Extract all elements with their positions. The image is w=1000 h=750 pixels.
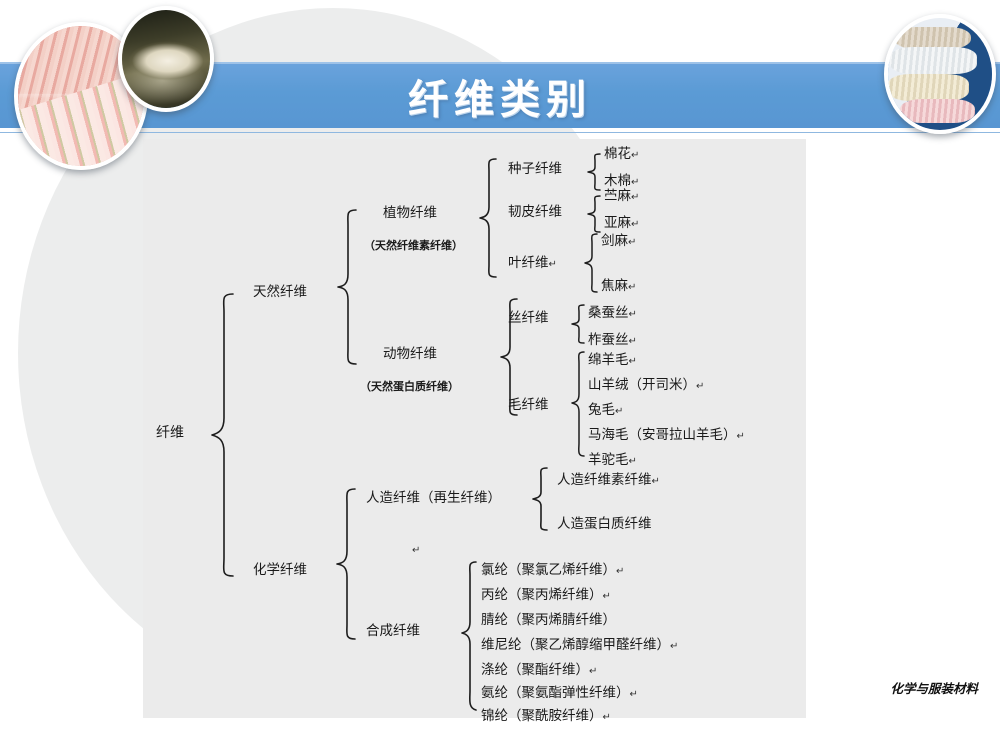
leaf-wool-0: 绵羊毛↵ (588, 354, 637, 368)
node-manmade-fiber: 人造纤维（再生纤维） (366, 492, 501, 506)
leaf-silk-1: 柞蚕丝↵ (588, 334, 637, 348)
brace-plant (478, 157, 498, 281)
leaf-wool-4: 羊驼毛↵ (588, 454, 637, 468)
slide-canvas: 纤维类别 (0, 0, 1000, 750)
leaf-manmade-0: 人造纤维素纤维↵ (557, 474, 660, 488)
brace-synthetic (460, 560, 478, 712)
leaf-synthetic-4: 涤纶（聚酯纤维）↵ (481, 664, 597, 678)
node-manmade-return-mark: ↵ (412, 546, 420, 556)
leaf-synthetic-1: 丙纶（聚丙烯纤维）↵ (481, 589, 611, 603)
leaf-wool-1: 山羊绒（开司米）↵ (588, 379, 704, 393)
brace-wool (570, 350, 586, 460)
leaf-silk-0: 桑蚕丝↵ (588, 307, 637, 321)
node-natural-fiber: 天然纤维 (253, 286, 307, 300)
leaf-synthetic-0: 氯纶（聚氯乙烯纤维）↵ (481, 564, 624, 578)
node-synthetic-fiber: 合成纤维 (366, 625, 420, 639)
node-chemical-fiber: 化学纤维 (253, 564, 307, 578)
node-leaf-fiber: 叶纤维↵ (508, 257, 557, 271)
node-animal-fiber: 动物纤维 (383, 348, 437, 362)
leaf-leaf-1: 焦麻↵ (601, 280, 636, 294)
leaf-bast-0: 苎麻↵ (604, 190, 639, 204)
brace-leaf (583, 232, 599, 294)
leaf-synthetic-2: 腈纶（聚丙烯腈纤维） (481, 614, 616, 628)
node-plant-fiber-subtitle: （天然纤维素纤维） (364, 240, 463, 251)
leaf-seed-1: 木棉↵ (604, 175, 639, 189)
leaf-wool-3: 马海毛（安哥拉山羊毛）↵ (588, 429, 745, 443)
brace-natural (336, 208, 358, 368)
leaf-synthetic-5: 氨纶（聚氨酯弹性纤维）↵ (481, 687, 638, 701)
leaf-synthetic-3: 维尼纶（聚乙烯醇缩甲醛纤维）↵ (481, 639, 678, 653)
node-wool-fiber: 毛纤维 (508, 399, 549, 413)
leaf-synthetic-6: 锦纶（聚酰胺纤维）↵ (481, 710, 611, 724)
node-plant-fiber: 植物纤维 (383, 207, 437, 221)
brace-silk (570, 303, 586, 345)
brace-bast (586, 194, 602, 234)
folded-towels-photo (884, 14, 996, 134)
band-underline (0, 132, 1000, 133)
node-silk-fiber: 丝纤维 (508, 312, 549, 326)
leaf-seed-0: 棉花↵ (604, 148, 639, 162)
leaf-bast-1: 亚麻↵ (604, 217, 639, 231)
brace-manmade (531, 466, 549, 532)
slide-footer: 化学与服装材料 (890, 678, 978, 697)
brace-seed (586, 152, 602, 192)
node-animal-fiber-subtitle: （天然蛋白质纤维） (360, 381, 459, 392)
leaf-wool-2: 兔毛↵ (588, 404, 623, 418)
node-root-fiber: 纤维 (156, 426, 184, 440)
brace-chemical (335, 487, 357, 643)
brace-root (209, 292, 235, 578)
cotton-boll-plant-photo (118, 6, 214, 112)
node-seed-fiber: 种子纤维 (508, 163, 562, 177)
leaf-leaf-0: 剑麻↵ (601, 235, 636, 249)
leaf-manmade-1: 人造蛋白质纤维 (557, 518, 652, 532)
node-bast-fiber: 韧皮纤维 (508, 206, 562, 220)
